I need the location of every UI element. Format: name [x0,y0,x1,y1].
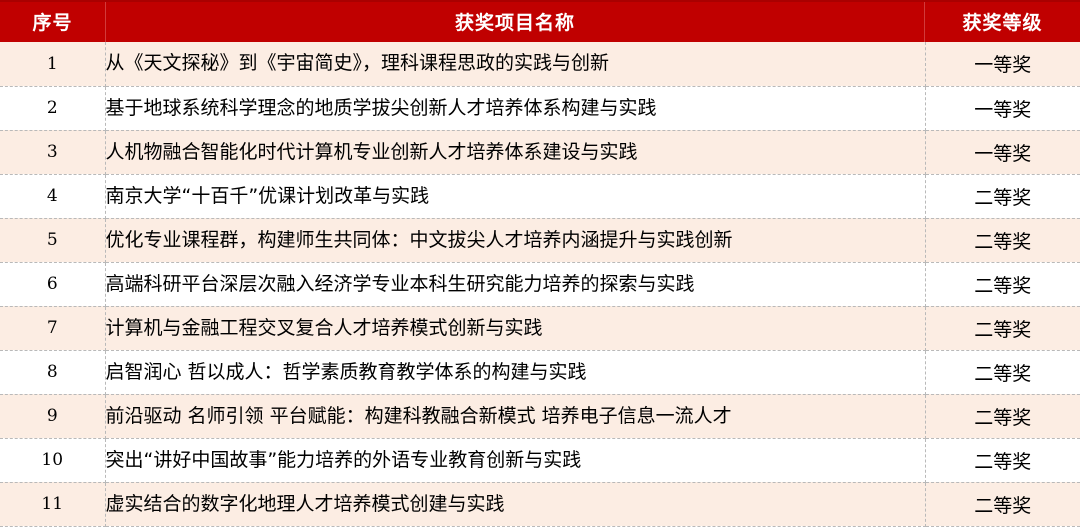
cell-no: 4 [0,174,105,218]
cell-project-title: 虚实结合的数字化地理人才培养模式创建与实践 [105,482,925,526]
cell-award-level: 二等奖 [925,306,1080,350]
cell-project-title: 优化专业课程群，构建师生共同体：中文拔尖人才培养内涵提升与实践创新 [105,218,925,262]
column-header-level: 获奖等级 [925,0,1080,42]
column-header-no: 序号 [0,0,105,42]
cell-award-level: 二等奖 [925,350,1080,394]
table-row: 8启智润心 哲以成人：哲学素质教育教学体系的构建与实践二等奖 [0,350,1080,394]
cell-no: 2 [0,86,105,130]
cell-no: 1 [0,42,105,86]
table-row: 6高端科研平台深层次融入经济学专业本科生研究能力培养的探索与实践二等奖 [0,262,1080,306]
table-row: 1从《天文探秘》到《宇宙简史》，理科课程思政的实践与创新一等奖 [0,42,1080,86]
cell-award-level: 二等奖 [925,438,1080,482]
cell-award-level: 二等奖 [925,218,1080,262]
cell-no: 6 [0,262,105,306]
cell-no: 9 [0,394,105,438]
cell-award-level: 二等奖 [925,174,1080,218]
cell-no: 5 [0,218,105,262]
cell-project-title: 前沿驱动 名师引领 平台赋能：构建科教融合新模式 培养电子信息一流人才 [105,394,925,438]
cell-no: 3 [0,130,105,174]
cell-project-title: 突出“讲好中国故事”能力培养的外语专业教育创新与实践 [105,438,925,482]
cell-project-title: 启智润心 哲以成人：哲学素质教育教学体系的构建与实践 [105,350,925,394]
cell-project-title: 人机物融合智能化时代计算机专业创新人才培养体系建设与实践 [105,130,925,174]
cell-no: 8 [0,350,105,394]
cell-no: 7 [0,306,105,350]
table-header: 序号 获奖项目名称 获奖等级 [0,0,1080,42]
cell-project-title: 从《天文探秘》到《宇宙简史》，理科课程思政的实践与创新 [105,42,925,86]
cell-award-level: 一等奖 [925,86,1080,130]
table-header-row: 序号 获奖项目名称 获奖等级 [0,0,1080,42]
table-row: 7计算机与金融工程交叉复合人才培养模式创新与实践二等奖 [0,306,1080,350]
table-row: 11虚实结合的数字化地理人才培养模式创建与实践二等奖 [0,482,1080,526]
cell-no: 10 [0,438,105,482]
column-header-title: 获奖项目名称 [105,0,925,42]
cell-no: 11 [0,482,105,526]
cell-award-level: 二等奖 [925,394,1080,438]
table-row: 9前沿驱动 名师引领 平台赋能：构建科教融合新模式 培养电子信息一流人才二等奖 [0,394,1080,438]
table-row: 10突出“讲好中国故事”能力培养的外语专业教育创新与实践二等奖 [0,438,1080,482]
cell-award-level: 二等奖 [925,262,1080,306]
award-list-table: 序号 获奖项目名称 获奖等级 1从《天文探秘》到《宇宙简史》，理科课程思政的实践… [0,0,1080,527]
cell-award-level: 二等奖 [925,482,1080,526]
cell-project-title: 南京大学“十百千”优课计划改革与实践 [105,174,925,218]
cell-award-level: 一等奖 [925,130,1080,174]
table-row: 5优化专业课程群，构建师生共同体：中文拔尖人才培养内涵提升与实践创新二等奖 [0,218,1080,262]
cell-award-level: 一等奖 [925,42,1080,86]
table-row: 4南京大学“十百千”优课计划改革与实践二等奖 [0,174,1080,218]
table-row: 2基于地球系统科学理念的地质学拔尖创新人才培养体系构建与实践一等奖 [0,86,1080,130]
cell-project-title: 基于地球系统科学理念的地质学拔尖创新人才培养体系构建与实践 [105,86,925,130]
cell-project-title: 计算机与金融工程交叉复合人才培养模式创新与实践 [105,306,925,350]
cell-project-title: 高端科研平台深层次融入经济学专业本科生研究能力培养的探索与实践 [105,262,925,306]
table-row: 3人机物融合智能化时代计算机专业创新人才培养体系建设与实践一等奖 [0,130,1080,174]
table-body: 1从《天文探秘》到《宇宙简史》，理科课程思政的实践与创新一等奖2基于地球系统科学… [0,42,1080,526]
